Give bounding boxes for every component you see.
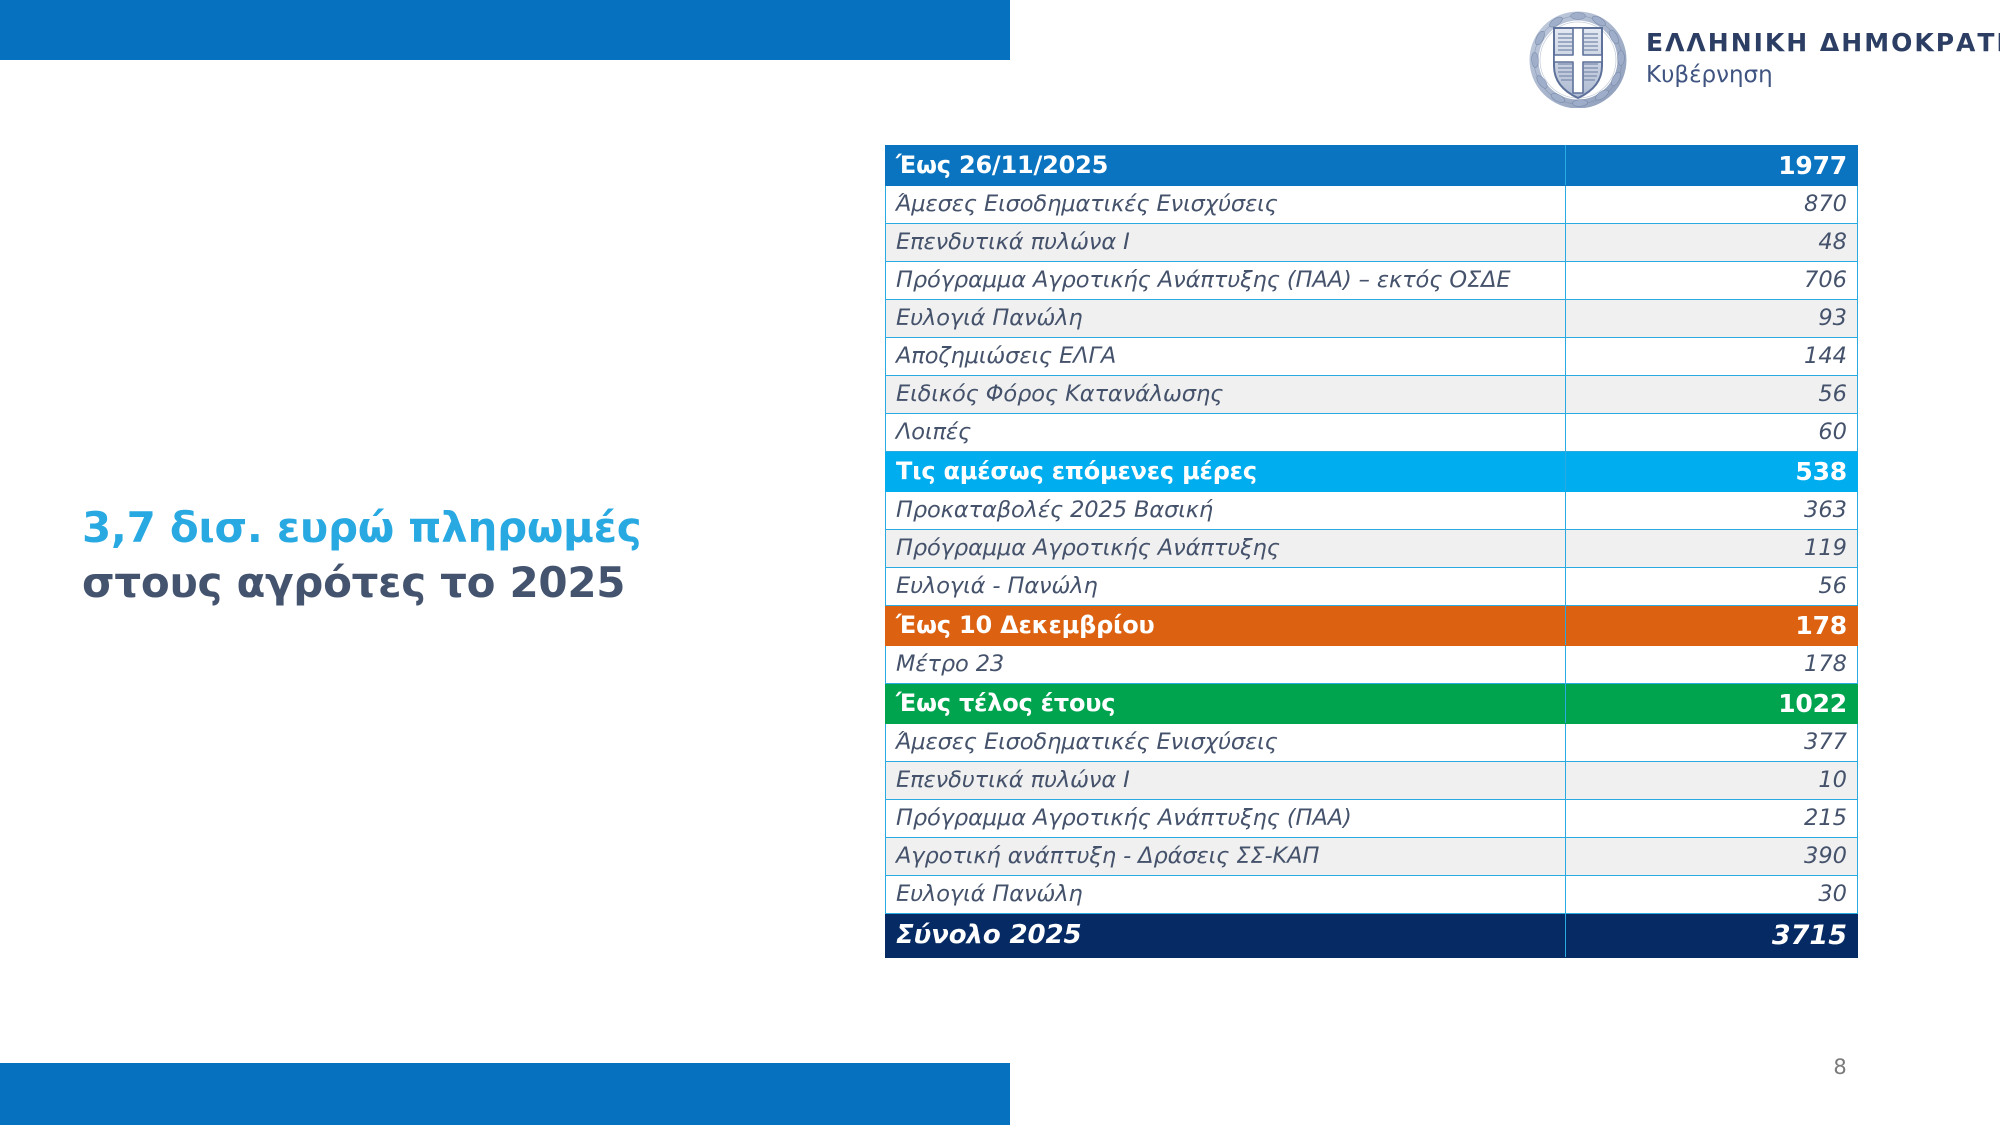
row-value: 56 (1566, 376, 1858, 414)
table-row: Ευλογιά Πανώλη30 (886, 876, 1858, 914)
row-value: 30 (1566, 876, 1858, 914)
row-value: 390 (1566, 838, 1858, 876)
row-value: 363 (1566, 492, 1858, 530)
brand-text: ΕΛΛΗΝΙΚΗ ΔΗΜΟΚΡΑΤΙΑ Κυβέρνηση (1646, 25, 2000, 91)
row-label: Πρόγραμμα Αγροτικής Ανάπτυξης (ΠΑΑ) (886, 800, 1566, 838)
row-label: Τις αμέσως επόμενες μέρες (886, 452, 1566, 492)
row-label: Σύνολο 2025 (886, 914, 1566, 958)
row-label: Έως τέλος έτους (886, 684, 1566, 724)
table-row: Προκαταβολές 2025 Βασική363 (886, 492, 1858, 530)
row-value: 178 (1566, 606, 1858, 646)
table-row: Πρόγραμμα Αγροτικής Ανάπτυξης119 (886, 530, 1858, 568)
row-value: 377 (1566, 724, 1858, 762)
table-section-header: Έως 26/11/20251977 (886, 146, 1858, 186)
table-row: Ειδικός Φόρος Κατανάλωσης56 (886, 376, 1858, 414)
row-value: 10 (1566, 762, 1858, 800)
row-value: 60 (1566, 414, 1858, 452)
table-row: Λοιπές60 (886, 414, 1858, 452)
table-row: Επενδυτικά πυλώνα I48 (886, 224, 1858, 262)
row-label: Επενδυτικά πυλώνα I (886, 762, 1566, 800)
row-label: Μέτρο 23 (886, 646, 1566, 684)
table-row: Άμεσες Εισοδηματικές Ενισχύσεις377 (886, 724, 1858, 762)
row-label: Λοιπές (886, 414, 1566, 452)
bottom-accent-bar (0, 1063, 1010, 1125)
row-value: 3715 (1566, 914, 1858, 958)
row-label: Ειδικός Φόρος Κατανάλωσης (886, 376, 1566, 414)
row-label: Ευλογιά - Πανώλη (886, 568, 1566, 606)
row-label: Αγροτική ανάπτυξη - Δράσεις ΣΣ-ΚΑΠ (886, 838, 1566, 876)
row-label: Ευλογιά Πανώλη (886, 876, 1566, 914)
row-label: Έως 10 Δεκεμβρίου (886, 606, 1566, 646)
row-value: 119 (1566, 530, 1858, 568)
brand-title: ΕΛΛΗΝΙΚΗ ΔΗΜΟΚΡΑΤΙΑ (1646, 29, 2000, 58)
row-label: Ευλογιά Πανώλη (886, 300, 1566, 338)
row-label: Έως 26/11/2025 (886, 146, 1566, 186)
row-value: 178 (1566, 646, 1858, 684)
table-row: Πρόγραμμα Αγροτικής Ανάπτυξης (ΠΑΑ)215 (886, 800, 1858, 838)
row-value: 56 (1566, 568, 1858, 606)
payments-table-body: Έως 26/11/20251977Άμεσες Εισοδηματικές Ε… (886, 146, 1858, 958)
brand-subtitle: Κυβέρνηση (1646, 61, 2000, 91)
page-title: 3,7 δισ. ευρώ πληρωμές στους αγρότες το … (82, 500, 702, 611)
row-label: Πρόγραμμα Αγροτικής Ανάπτυξης (886, 530, 1566, 568)
headline-line-1: 3,7 δισ. ευρώ πληρωμές (82, 500, 702, 555)
row-value: 48 (1566, 224, 1858, 262)
row-value: 706 (1566, 262, 1858, 300)
top-accent-bar (0, 0, 1010, 60)
table-section-header: Έως τέλος έτους1022 (886, 684, 1858, 724)
row-value: 93 (1566, 300, 1858, 338)
table-section-header: Έως 10 Δεκεμβρίου178 (886, 606, 1858, 646)
payments-table-container: Έως 26/11/20251977Άμεσες Εισοδηματικές Ε… (885, 145, 1857, 958)
row-label: Προκαταβολές 2025 Βασική (886, 492, 1566, 530)
table-section-header: Τις αμέσως επόμενες μέρες538 (886, 452, 1858, 492)
table-row: Επενδυτικά πυλώνα I10 (886, 762, 1858, 800)
payments-table: Έως 26/11/20251977Άμεσες Εισοδηματικές Ε… (885, 145, 1858, 958)
table-row: Ευλογιά Πανώλη93 (886, 300, 1858, 338)
row-value: 1022 (1566, 684, 1858, 724)
page-number: 8 (1820, 1055, 1860, 1079)
table-total-row: Σύνολο 20253715 (886, 914, 1858, 958)
row-label: Άμεσες Εισοδηματικές Ενισχύσεις (886, 724, 1566, 762)
table-row: Αγροτική ανάπτυξη - Δράσεις ΣΣ-ΚΑΠ390 (886, 838, 1858, 876)
brand-lockup: ΕΛΛΗΝΙΚΗ ΔΗΜΟΚΡΑΤΙΑ Κυβέρνηση (1528, 8, 2000, 108)
table-row: Μέτρο 23178 (886, 646, 1858, 684)
table-row: Αποζημιώσεις ΕΛΓΑ144 (886, 338, 1858, 376)
table-row: Άμεσες Εισοδηματικές Ενισχύσεις870 (886, 186, 1858, 224)
headline-line-2: στους αγρότες το 2025 (82, 555, 702, 610)
greek-coat-of-arms-icon (1528, 8, 1628, 108)
row-value: 215 (1566, 800, 1858, 838)
row-value: 538 (1566, 452, 1858, 492)
row-value: 144 (1566, 338, 1858, 376)
row-label: Πρόγραμμα Αγροτικής Ανάπτυξης (ΠΑΑ) – εκ… (886, 262, 1566, 300)
row-label: Αποζημιώσεις ΕΛΓΑ (886, 338, 1566, 376)
row-label: Επενδυτικά πυλώνα I (886, 224, 1566, 262)
table-row: Ευλογιά - Πανώλη56 (886, 568, 1858, 606)
row-label: Άμεσες Εισοδηματικές Ενισχύσεις (886, 186, 1566, 224)
row-value: 1977 (1566, 146, 1858, 186)
table-row: Πρόγραμμα Αγροτικής Ανάπτυξης (ΠΑΑ) – εκ… (886, 262, 1858, 300)
row-value: 870 (1566, 186, 1858, 224)
